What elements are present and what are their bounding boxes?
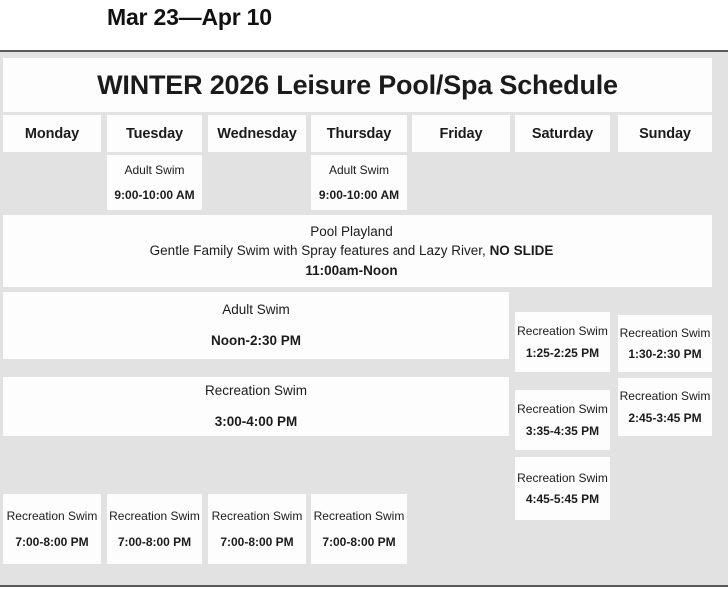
session-time: 1:25-2:25 PM xyxy=(526,345,599,361)
session-time: 7:00-8:00 PM xyxy=(15,534,88,550)
session-time: 3:00-4:00 PM xyxy=(215,413,298,431)
day-header-label: Monday xyxy=(25,126,79,142)
day-header-monday: Monday xyxy=(3,115,101,152)
session-time: 1:30-2:30 PM xyxy=(628,346,701,362)
session-monday-evening[interactable]: Recreation Swim 7:00-8:00 PM xyxy=(3,494,101,564)
session-time: 2:45-3:45 PM xyxy=(628,410,701,426)
session-activity: Adult Swim xyxy=(222,301,290,319)
day-header-label: Tuesday xyxy=(126,126,183,142)
playland-description: Gentle Family Swim with Spray features a… xyxy=(150,241,554,261)
date-range-text: Mar 23—Apr 10 xyxy=(107,4,272,31)
day-header-friday: Friday xyxy=(412,115,510,152)
playland-description-prefix: Gentle Family Swim with Spray features a… xyxy=(150,243,490,258)
session-time: 9:00-10:00 AM xyxy=(114,187,194,203)
session-wednesday-evening[interactable]: Recreation Swim 7:00-8:00 PM xyxy=(208,494,306,564)
schedule-title: WINTER 2026 Leisure Pool/Spa Schedule xyxy=(97,70,618,101)
session-time: 3:35-4:35 PM xyxy=(526,423,599,439)
session-activity: Adult Swim xyxy=(124,162,184,178)
session-activity: Adult Swim xyxy=(329,162,389,178)
day-header-saturday: Saturday xyxy=(515,115,610,152)
session-thursday-evening[interactable]: Recreation Swim 7:00-8:00 PM xyxy=(311,494,407,564)
session-activity: Recreation Swim xyxy=(517,323,608,339)
session-sunday-2[interactable]: Recreation Swim 2:45-3:45 PM xyxy=(618,378,712,436)
session-activity: Recreation Swim xyxy=(620,388,711,404)
session-time: 9:00-10:00 AM xyxy=(319,187,399,203)
day-header-label: Sunday xyxy=(639,126,691,142)
session-saturday-3[interactable]: Recreation Swim 4:45-5:45 PM xyxy=(515,457,610,520)
day-header-tuesday: Tuesday xyxy=(107,115,202,152)
day-header-label: Wednesday xyxy=(217,126,296,142)
schedule-title-cell: WINTER 2026 Leisure Pool/Spa Schedule xyxy=(3,58,712,112)
day-header-sunday: Sunday xyxy=(618,115,712,152)
session-activity: Recreation Swim xyxy=(314,508,405,524)
playland-activity: Pool Playland xyxy=(310,222,393,242)
session-pool-playland[interactable]: Pool Playland Gentle Family Swim with Sp… xyxy=(3,215,712,287)
date-range-bar: Mar 23—Apr 10 xyxy=(0,0,728,50)
playland-time: 11:00am-Noon xyxy=(305,261,397,281)
day-header-thursday: Thursday xyxy=(311,115,407,152)
session-activity: Recreation Swim xyxy=(620,325,711,341)
session-sunday-1[interactable]: Recreation Swim 1:30-2:30 PM xyxy=(618,315,712,372)
day-header-label: Friday xyxy=(440,126,483,142)
pool-schedule-table: WINTER 2026 Leisure Pool/Spa Schedule Mo… xyxy=(0,50,728,587)
session-adult-swim-afternoon[interactable]: Adult Swim Noon-2:30 PM xyxy=(3,292,509,359)
session-activity: Recreation Swim xyxy=(109,508,200,524)
day-header-label: Thursday xyxy=(327,126,391,142)
session-saturday-2[interactable]: Recreation Swim 3:35-4:35 PM xyxy=(515,390,610,450)
session-recreation-swim-afternoon[interactable]: Recreation Swim 3:00-4:00 PM xyxy=(3,377,509,436)
day-header-wednesday: Wednesday xyxy=(208,115,306,152)
session-tuesday-evening[interactable]: Recreation Swim 7:00-8:00 PM xyxy=(107,494,202,564)
session-activity: Recreation Swim xyxy=(7,508,98,524)
session-time: 7:00-8:00 PM xyxy=(118,534,191,550)
session-saturday-1[interactable]: Recreation Swim 1:25-2:25 PM xyxy=(515,312,610,372)
session-time: 4:45-5:45 PM xyxy=(526,491,599,507)
session-time: 7:00-8:00 PM xyxy=(322,534,395,550)
session-activity: Recreation Swim xyxy=(517,470,608,486)
day-header-label: Saturday xyxy=(532,126,593,142)
session-activity: Recreation Swim xyxy=(205,382,307,400)
session-time: 7:00-8:00 PM xyxy=(220,534,293,550)
session-activity: Recreation Swim xyxy=(517,401,608,417)
session-tuesday-adult-swim-morning[interactable]: Adult Swim 9:00-10:00 AM xyxy=(107,155,202,210)
session-activity: Recreation Swim xyxy=(212,508,303,524)
session-thursday-adult-swim-morning[interactable]: Adult Swim 9:00-10:00 AM xyxy=(311,155,407,210)
playland-no-slide-emphasis: NO SLIDE xyxy=(490,243,554,258)
session-time: Noon-2:30 PM xyxy=(211,332,301,350)
